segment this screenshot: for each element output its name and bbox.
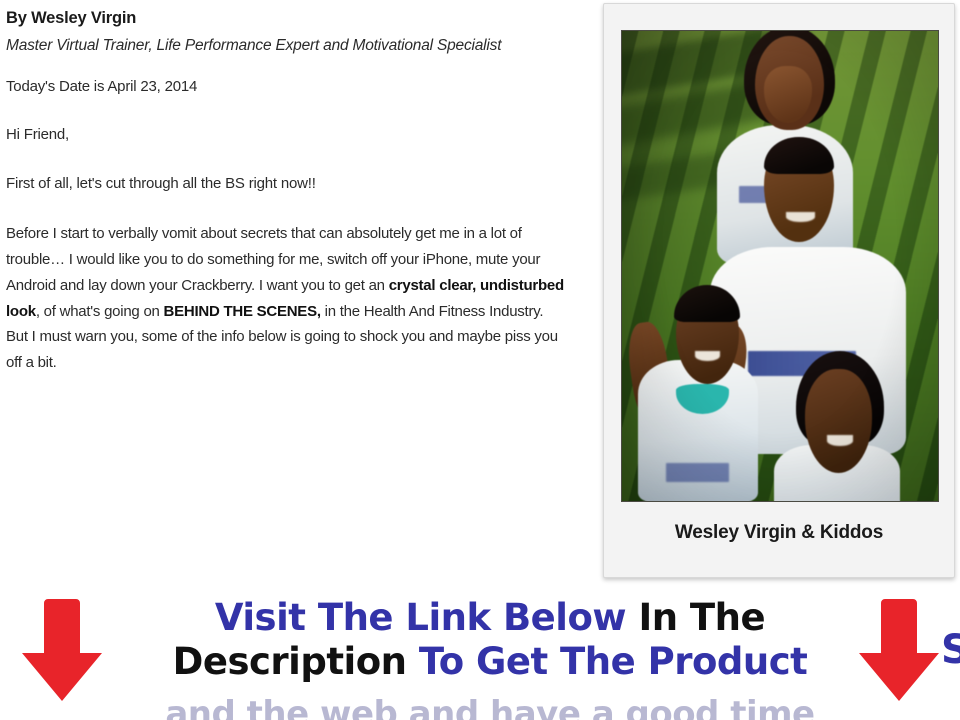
sales-letter-column: By Wesley Virgin Master Virtual Trainer,… (0, 0, 585, 585)
cta-edge-glyph: S (941, 622, 960, 678)
photo-card: Wesley Virgin & Kiddos (603, 3, 955, 578)
child-left-shirt-logo (666, 463, 729, 482)
child-front-head (805, 369, 871, 472)
cta-line2-black: Description (173, 640, 419, 683)
body-part-2: , of what's going on (36, 303, 164, 320)
salutation-text: Hi Friend, (6, 124, 567, 147)
cta-headline[interactable]: Visit The Link Below In TheDescription T… (150, 596, 830, 683)
todays-date-line: Today's Date is April 23, 2014 (6, 76, 567, 99)
cta-line1-blue: Visit The Link Below (215, 596, 626, 639)
cta-clipped-next-line: and the web and have a good time (150, 694, 830, 720)
child-left-smile (695, 351, 720, 361)
body-bold-behind-the-scenes: BEHIND THE SCENES, (164, 303, 321, 320)
red-down-arrow-icon (18, 595, 106, 705)
photo-caption: Wesley Virgin & Kiddos (604, 522, 954, 544)
cta-line1-black: In The (626, 596, 765, 639)
red-down-arrow-icon (855, 595, 943, 705)
page-root: By Wesley Virgin Master Virtual Trainer,… (0, 0, 960, 720)
child-front-smile (827, 435, 852, 445)
author-byline: By Wesley Virgin (6, 8, 567, 29)
cta-line2-blue: To Get The Product (419, 640, 807, 683)
lead-paragraph: First of all, let's cut through all the … (6, 173, 567, 196)
family-photo (621, 30, 939, 502)
author-credentials: Master Virtual Trainer, Life Performance… (6, 33, 567, 58)
body-paragraph: Before I start to verbally vomit about s… (6, 221, 567, 376)
